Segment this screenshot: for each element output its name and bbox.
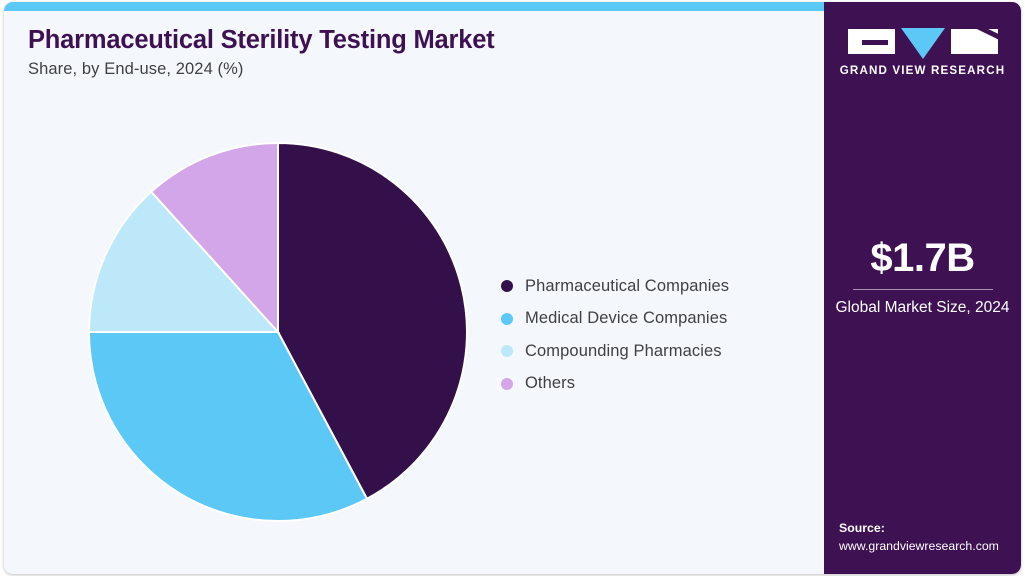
brand-name: GRAND VIEW RESEARCH bbox=[824, 64, 1021, 77]
chart-card: Pharmaceutical Sterility Testing Market … bbox=[4, 2, 1021, 574]
legend-label: Medical Device Companies bbox=[525, 309, 727, 328]
logo-marks bbox=[824, 28, 1021, 55]
source-url[interactable]: www.grandviewresearch.com bbox=[839, 538, 1021, 556]
market-size-value: $1.7B bbox=[824, 237, 1021, 279]
pie-chart-svg bbox=[88, 142, 468, 522]
legend-item-others[interactable]: Others bbox=[501, 368, 801, 401]
brand-side-panel: GRAND VIEW RESEARCH $1.7B Global Market … bbox=[824, 2, 1021, 574]
page-title: Pharmaceutical Sterility Testing Market bbox=[28, 26, 728, 55]
logo-letter-v-triangle-icon bbox=[901, 28, 945, 59]
stat-divider bbox=[853, 289, 993, 290]
legend-color-swatch-icon bbox=[501, 313, 513, 325]
market-size-stat: $1.7B Global Market Size, 2024 bbox=[824, 237, 1021, 319]
source-block: Source: www.grandviewresearch.com bbox=[839, 520, 1021, 556]
brand-logo: GRAND VIEW RESEARCH bbox=[824, 28, 1021, 77]
pie-chart bbox=[88, 142, 468, 522]
chart-header: Pharmaceutical Sterility Testing Market … bbox=[28, 26, 728, 79]
legend-color-swatch-icon bbox=[501, 280, 513, 292]
source-label: Source: bbox=[839, 520, 1021, 538]
legend-item-pharmaceutical-companies[interactable]: Pharmaceutical Companies bbox=[501, 270, 801, 303]
legend-label: Pharmaceutical Companies bbox=[525, 277, 729, 296]
infographic-root: Pharmaceutical Sterility Testing Market … bbox=[0, 0, 1025, 576]
chart-legend: Pharmaceutical Companies Medical Device … bbox=[501, 270, 801, 400]
legend-item-medical-device-companies[interactable]: Medical Device Companies bbox=[501, 303, 801, 336]
legend-color-swatch-icon bbox=[501, 378, 513, 390]
logo-letter-g-icon bbox=[848, 29, 895, 54]
pie-slices bbox=[89, 143, 467, 521]
market-size-caption: Global Market Size, 2024 bbox=[824, 298, 1021, 319]
logo-letter-r-icon bbox=[951, 29, 998, 54]
legend-label: Others bbox=[525, 374, 575, 393]
chart-subtitle: Share, by End-use, 2024 (%) bbox=[28, 60, 728, 79]
legend-color-swatch-icon bbox=[501, 345, 513, 357]
legend-item-compounding-pharmacies[interactable]: Compounding Pharmacies bbox=[501, 335, 801, 368]
legend-label: Compounding Pharmacies bbox=[525, 342, 722, 361]
